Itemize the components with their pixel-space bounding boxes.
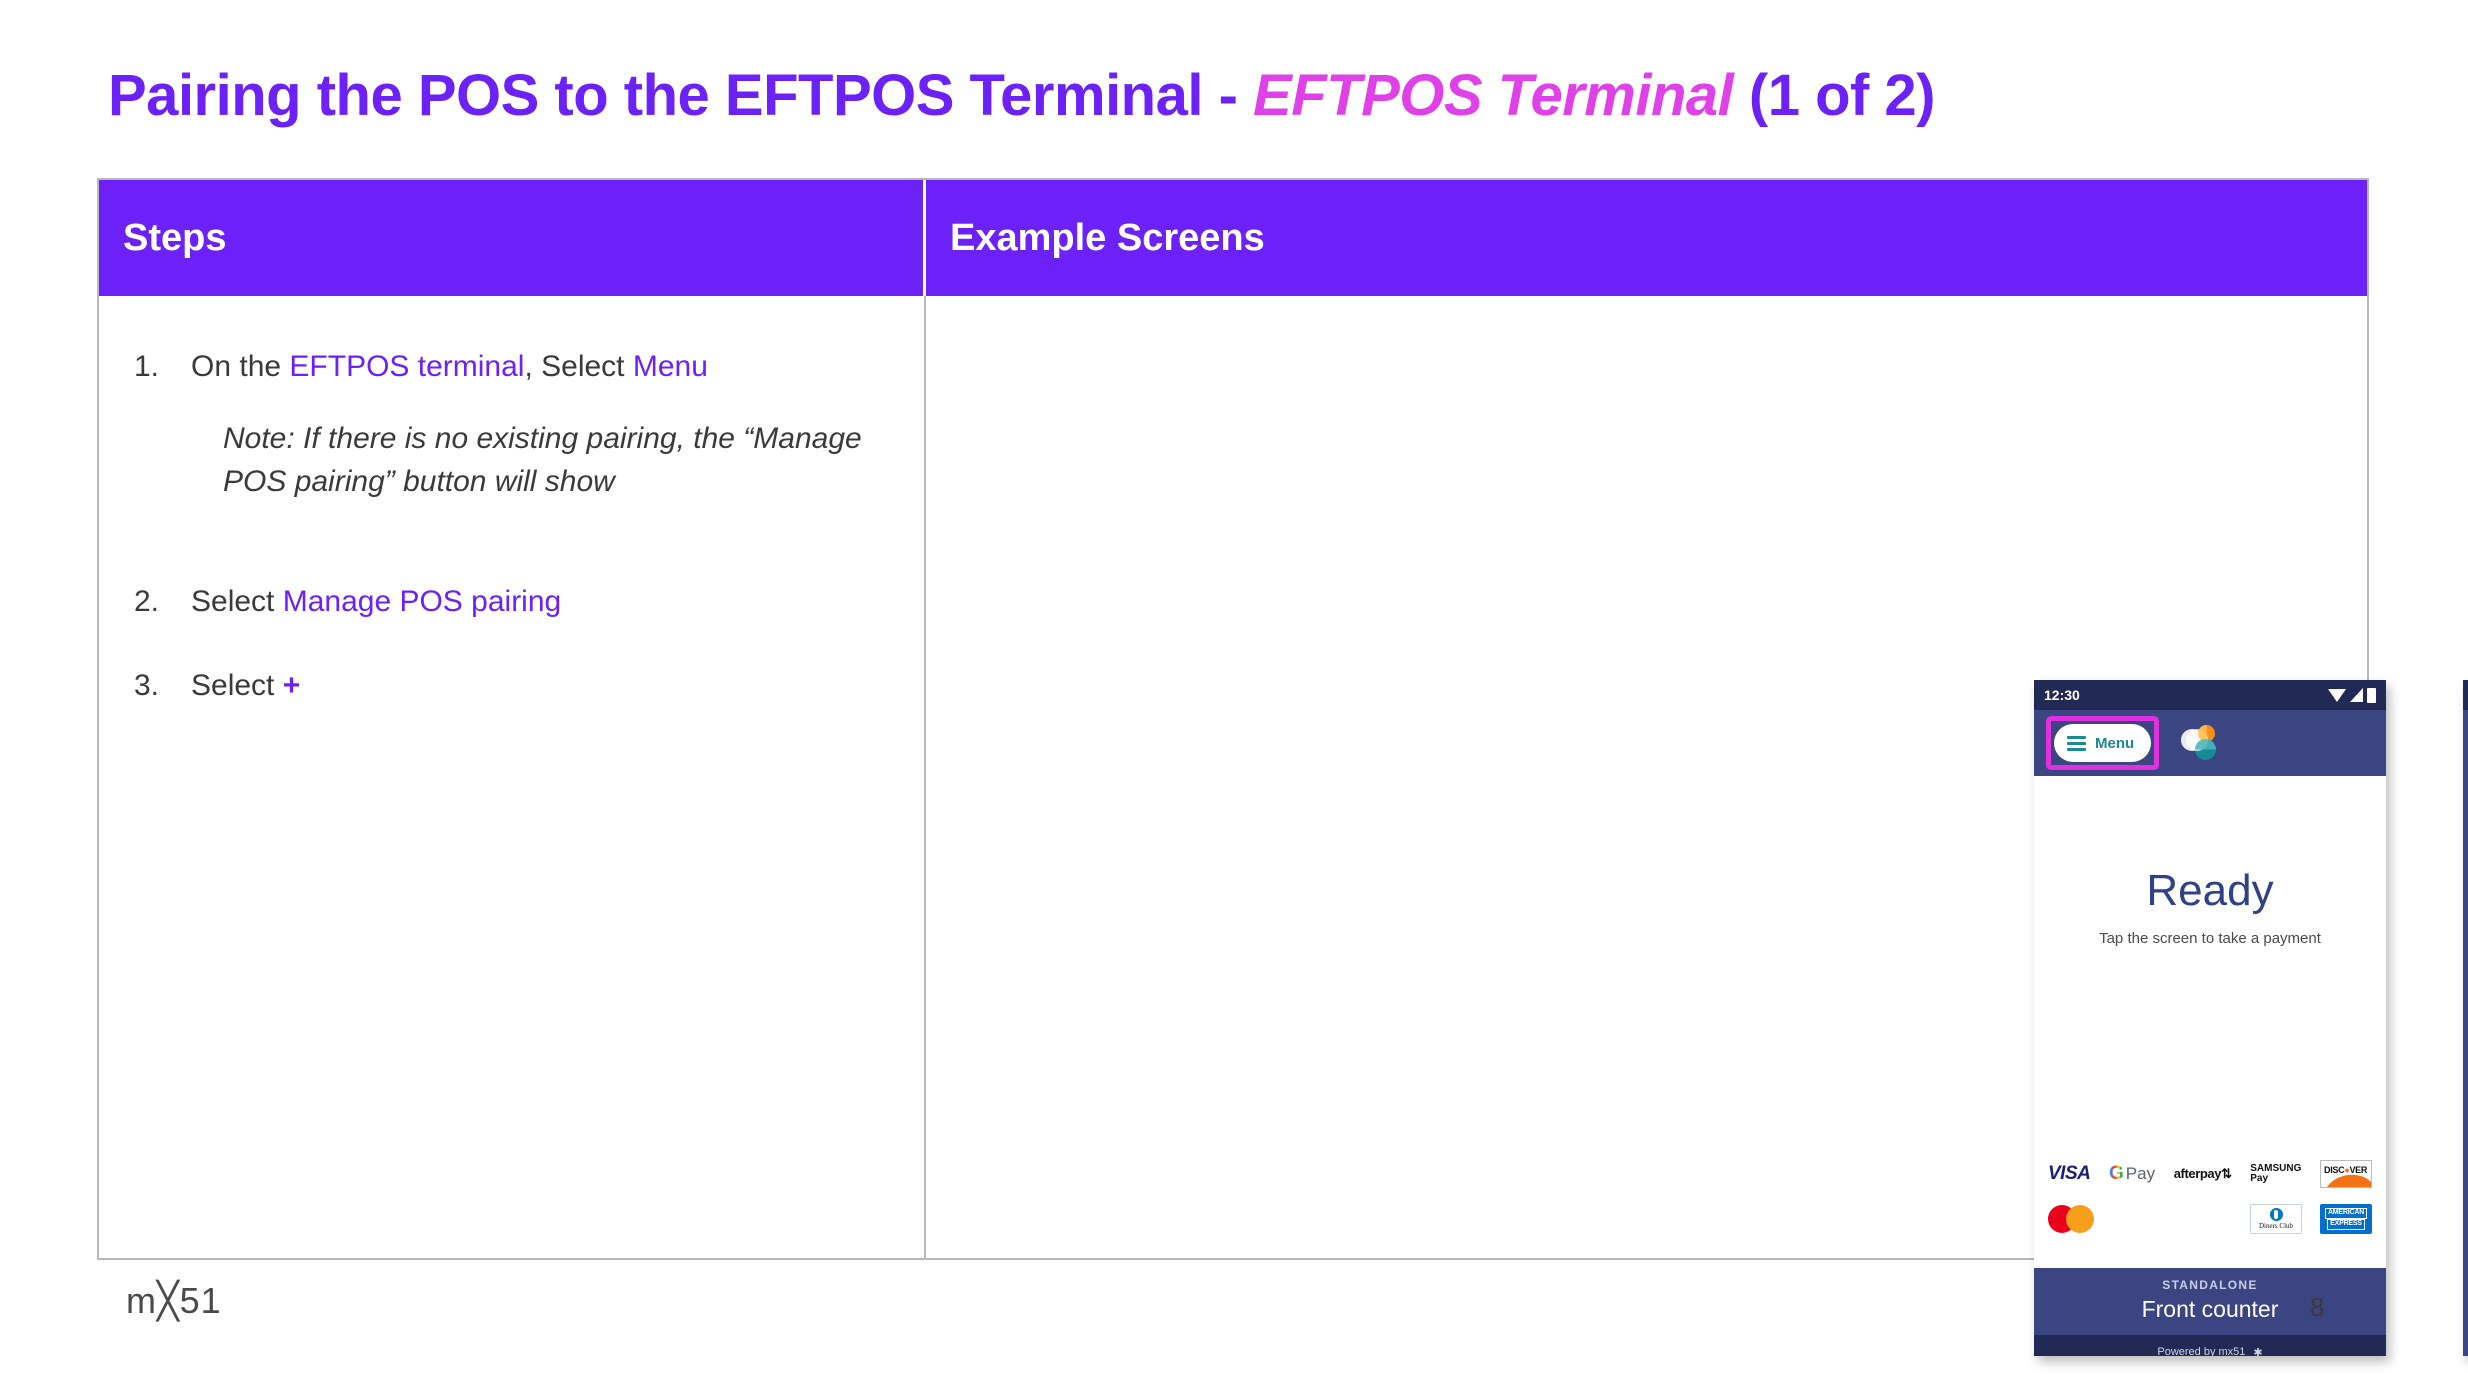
page-number: 8 [2310, 1292, 2324, 1323]
title-emphasis: EFTPOS Terminal [1253, 63, 1733, 128]
ready-subtext: Tap the screen to take a payment [2034, 930, 2386, 947]
step-2-number: 2. [119, 587, 191, 617]
title-main: Pairing the POS to the EFTPOS Terminal - [108, 63, 1253, 128]
step-1-mid: , Select [524, 350, 632, 383]
step-3-number: 3. [119, 671, 191, 701]
payment-logos-row-2: UnionPay JCB Diners Club AMERICANEXPRESS [2048, 1204, 2372, 1234]
table-header-row: Steps Example Screens [99, 180, 2367, 296]
phone1-status-time: 12:30 [2044, 687, 2080, 703]
phone1-status-bar: 12:30 [2034, 680, 2386, 710]
wifi-icon [2328, 689, 2346, 702]
discover-icon: DISC●VER [2320, 1160, 2372, 1188]
samsung-pay-icon: SAMSUNGPay [2250, 1161, 2301, 1187]
step-2: 2. Select Manage POS pairing [119, 587, 904, 617]
step-3-text: Select + [191, 671, 904, 701]
mastercard-icon [2048, 1205, 2094, 1233]
step-3: 3. Select + [119, 671, 904, 701]
step-2-link-manage-pos-pairing[interactable]: Manage POS pairing [283, 585, 562, 618]
step-3-pre: Select [191, 669, 283, 702]
phone2-status-bar: 12:30 [2463, 680, 2468, 710]
payment-logos: VISA GPay afterpay⇅ SAMSUNGPay DISC●VER … [2034, 1160, 2386, 1250]
hamburger-icon [2067, 736, 2086, 751]
unionpay-icon: UnionPay [2112, 1204, 2164, 1234]
step-2-pre: Select [191, 585, 283, 618]
ready-heading: Ready [2034, 866, 2386, 916]
phone-screen-menu: 12:30 Menu [2463, 680, 2468, 1356]
diners-club-icon: Diners Club [2250, 1204, 2302, 1234]
column-header-steps: Steps [99, 180, 926, 296]
jcb-icon: JCB [2182, 1204, 2232, 1234]
phone1-status-icons [2328, 688, 2376, 703]
phone2-body: Menu Transaction history [2463, 710, 2468, 1356]
phone1-body[interactable]: Ready Tap the screen to take a payment V… [2034, 866, 2386, 1268]
column-header-example-screens: Example Screens [926, 180, 2367, 296]
mx51-circles-logo [2181, 725, 2223, 761]
title-tail: (1 of 2) [1733, 63, 1935, 128]
phone-screen-ready: 12:30 Menu [2034, 680, 2386, 1356]
powered-by-bar: Powered by mx51 ✱ [2034, 1335, 2386, 1356]
signal-icon [2350, 688, 2363, 702]
step-1-link-eftpos-terminal[interactable]: EFTPOS terminal [289, 350, 524, 383]
store-name: Front counter [2034, 1296, 2386, 1323]
step-3-plus-symbol: + [283, 669, 301, 702]
battery-icon [2367, 688, 2376, 703]
step-1-text: On the EFTPOS terminal, Select Menu [191, 352, 904, 382]
step-1-number: 1. [119, 352, 191, 382]
mx51-wordmark: m╳51 [126, 1280, 222, 1322]
step-2-text: Select Manage POS pairing [191, 587, 904, 617]
note-text: Note: If there is no existing pairing, t… [223, 418, 863, 503]
payment-logos-row-1: VISA GPay afterpay⇅ SAMSUNGPay DISC●VER [2048, 1160, 2372, 1188]
step-1-pre: On the [191, 350, 289, 383]
visa-icon: VISA [2048, 1161, 2090, 1187]
mx51-x-icon: ✱ [2253, 1346, 2262, 1357]
standalone-label: STANDALONE [2034, 1278, 2386, 1292]
amex-icon: AMERICANEXPRESS [2320, 1204, 2372, 1234]
menu-button-highlight: Menu [2046, 716, 2159, 770]
menu-button-label: Menu [2095, 735, 2134, 752]
afterpay-icon: afterpay⇅ [2174, 1161, 2232, 1187]
phone1-store-footer: STANDALONE Front counter [2034, 1268, 2386, 1335]
step-1: 1. On the EFTPOS terminal, Select Menu [119, 352, 904, 382]
table-body-row: 1. On the EFTPOS terminal, Select Menu N… [99, 296, 2367, 1258]
menu-button[interactable]: Menu [2054, 724, 2151, 762]
page-title: Pairing the POS to the EFTPOS Terminal -… [108, 62, 1935, 129]
slide: Pairing the POS to the EFTPOS Terminal -… [0, 0, 2468, 1392]
phone1-app-bar: Menu [2034, 710, 2386, 776]
google-pay-icon: GPay [2109, 1161, 2155, 1187]
powered-by-label: Powered by mx51 [2157, 1346, 2245, 1356]
steps-cell: 1. On the EFTPOS terminal, Select Menu N… [99, 296, 926, 1258]
step-1-link-menu[interactable]: Menu [633, 350, 708, 383]
example-screens-cell: 12:30 Menu [926, 296, 2367, 1258]
content-table: Steps Example Screens 1. On the EFTPOS t… [97, 178, 2369, 1260]
